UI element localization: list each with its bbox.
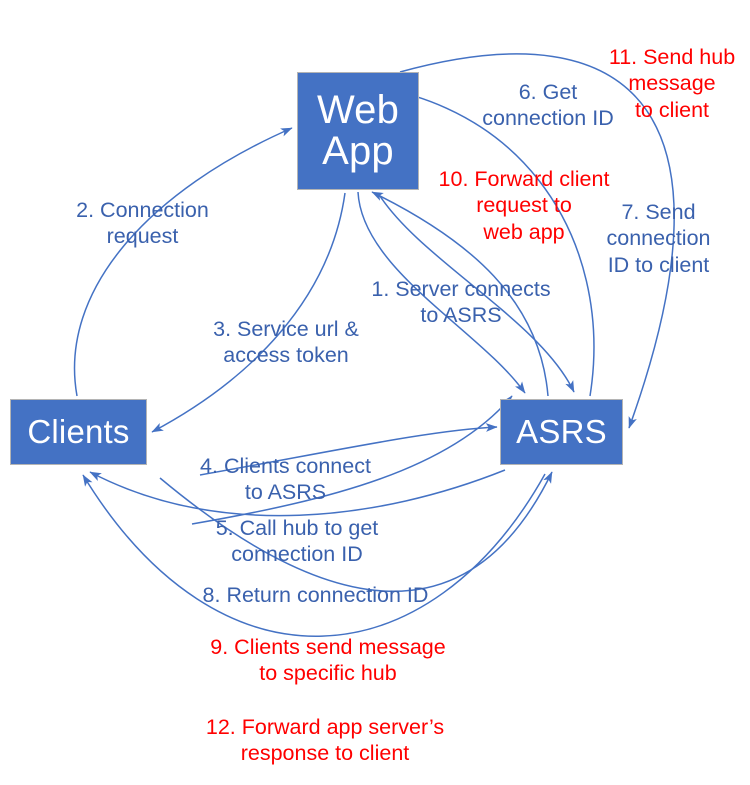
- node-asrs-label: ASRS: [516, 415, 607, 449]
- connector-3: [152, 193, 345, 432]
- connector-10: [372, 192, 548, 396]
- node-clients[interactable]: Clients: [10, 399, 147, 465]
- diagram-canvas: Web App Clients ASRS 1. Server connects …: [0, 0, 750, 785]
- node-web-app-line2: App: [322, 131, 394, 172]
- node-web-app[interactable]: Web App: [297, 72, 419, 190]
- connector-8: [90, 470, 505, 516]
- connector-5: [192, 396, 512, 524]
- node-clients-label: Clients: [27, 415, 129, 449]
- connector-4: [200, 427, 497, 475]
- node-web-app-line1: Web: [317, 90, 399, 131]
- connector-7: [378, 193, 574, 392]
- node-asrs[interactable]: ASRS: [500, 399, 623, 465]
- connector-9: [160, 472, 552, 591]
- connector-11: [400, 54, 674, 428]
- connector-1: [358, 192, 525, 393]
